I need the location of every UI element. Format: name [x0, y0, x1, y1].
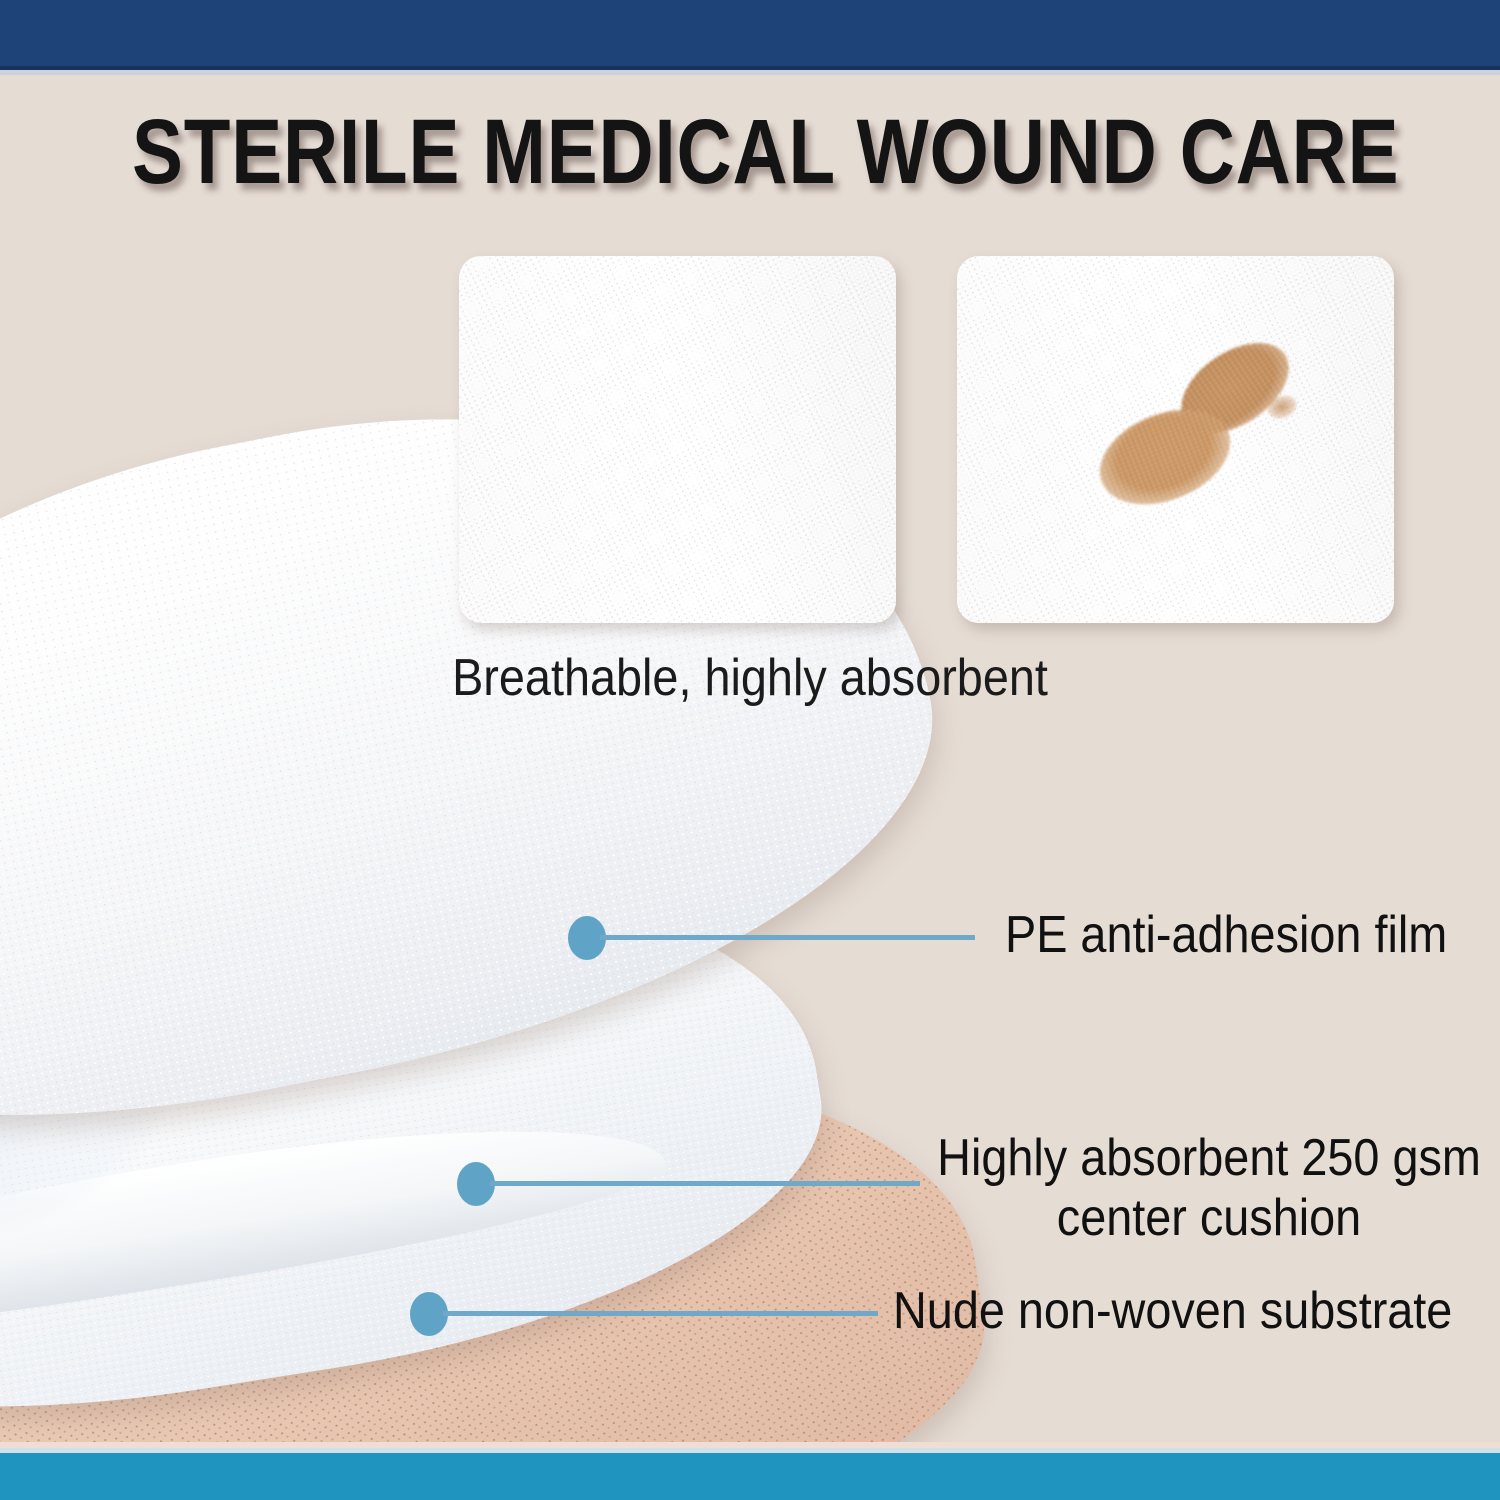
photo-card-absorbed-pad	[957, 256, 1394, 623]
layer-stack-illustration	[0, 0, 1040, 1450]
photos-caption: Breathable, highly absorbent	[75, 648, 1425, 708]
callout-leader-line	[490, 1181, 920, 1186]
callout-label-nude-substrate: Nude non-woven substrate	[893, 1281, 1452, 1341]
photo-card-dry-pad	[459, 256, 896, 623]
callout-label-center-cushion: Highly absorbent 250 gsm center cushion	[930, 1128, 1488, 1248]
bottom-brand-bar	[0, 1453, 1500, 1500]
callout-leader-line	[600, 935, 975, 940]
infographic-canvas: STERILE MEDICAL WOUND CARE Breathable, h…	[0, 0, 1500, 1500]
callout-leader-line	[443, 1311, 878, 1316]
callout-label-pe-film: PE anti-adhesion film	[1005, 905, 1447, 965]
bandage-pad-surface	[459, 256, 896, 623]
